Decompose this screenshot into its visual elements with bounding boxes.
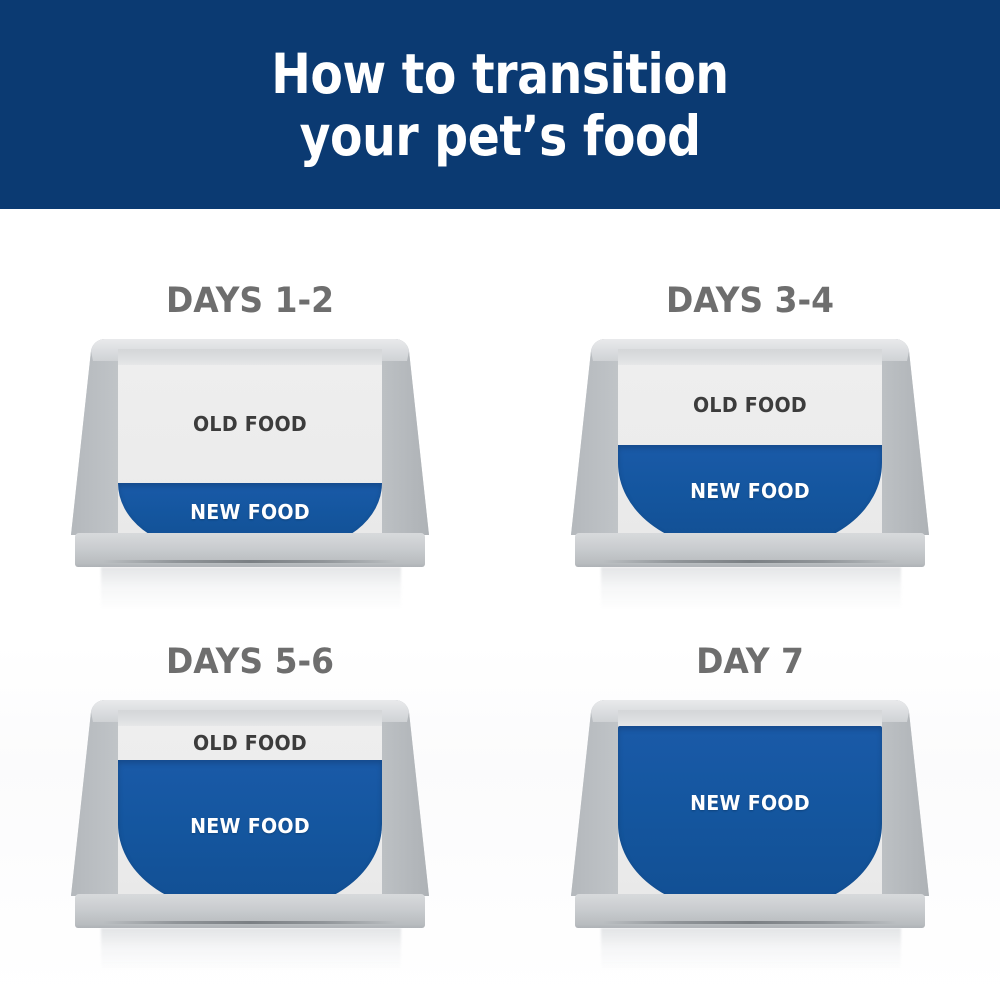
bowl-reflection bbox=[101, 928, 401, 972]
header-banner: How to transition your pet’s food bbox=[0, 0, 1000, 209]
bowl-base bbox=[75, 894, 425, 928]
old-food-label: OLD FOOD bbox=[125, 731, 376, 755]
new-food-label: NEW FOOD bbox=[125, 814, 376, 838]
bowl-cavity: NEW FOOD bbox=[618, 710, 882, 910]
page-title-line-1: How to transition bbox=[271, 43, 728, 105]
bowl-reflection bbox=[601, 928, 901, 972]
bowl-rim-band bbox=[618, 710, 882, 726]
bowl-base-shadow bbox=[603, 921, 897, 924]
stage-title: DAYS 5-6 bbox=[15, 642, 485, 682]
bowl-rim-band bbox=[618, 349, 882, 365]
bowl-base-shadow bbox=[103, 921, 397, 924]
new-food-fill bbox=[618, 726, 882, 910]
new-food-label: NEW FOOD bbox=[625, 479, 876, 503]
bowl-base bbox=[575, 894, 925, 928]
stage-card-days-3-4: DAYS 3-4 bbox=[500, 209, 1000, 604]
bowl-rim-band bbox=[118, 349, 382, 365]
bowl-base-shadow bbox=[103, 560, 397, 563]
bowl-cavity: OLD FOOD NEW FOOD bbox=[118, 710, 382, 910]
bowl-base bbox=[575, 533, 925, 567]
bowl-base bbox=[75, 533, 425, 567]
bowl-base-shadow bbox=[603, 560, 897, 563]
old-food-label: OLD FOOD bbox=[125, 412, 376, 436]
food-bowl: OLD FOOD NEW FOOD bbox=[571, 339, 929, 567]
stage-card-days-1-2: DAYS 1-2 bbox=[0, 209, 500, 604]
stage-title: DAYS 3-4 bbox=[515, 281, 985, 321]
bowl-cavity: OLD FOOD NEW FOOD bbox=[118, 349, 382, 549]
stage-card-day-7: DAY 7 bbox=[500, 570, 1000, 965]
food-bowl: OLD FOOD NEW FOOD bbox=[71, 339, 429, 567]
food-bowl: NEW FOOD bbox=[571, 700, 929, 928]
transition-stages-grid: DAYS 1-2 bbox=[0, 209, 1000, 1000]
bowl-rim-band bbox=[118, 710, 382, 726]
new-food-label: NEW FOOD bbox=[125, 500, 376, 524]
stage-title: DAY 7 bbox=[515, 642, 985, 682]
food-bowl: OLD FOOD NEW FOOD bbox=[71, 700, 429, 928]
bowl-cavity: OLD FOOD NEW FOOD bbox=[618, 349, 882, 549]
old-food-label: OLD FOOD bbox=[625, 393, 876, 417]
new-food-label: NEW FOOD bbox=[625, 791, 876, 815]
page-title-line-2: your pet’s food bbox=[300, 105, 701, 167]
stage-card-days-5-6: DAYS 5-6 bbox=[0, 570, 500, 965]
stage-title: DAYS 1-2 bbox=[15, 281, 485, 321]
